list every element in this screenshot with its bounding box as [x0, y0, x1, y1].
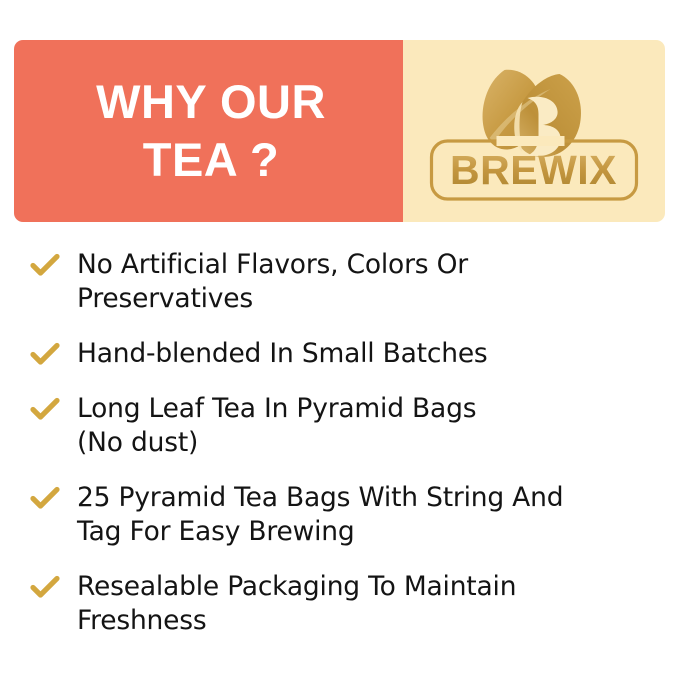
check-icon	[30, 481, 60, 515]
check-icon	[30, 337, 60, 371]
brewix-logo-icon: BREWIX	[427, 56, 642, 206]
why-our-tea-banner: WHY OUR TEA ?	[14, 40, 665, 222]
list-item: 25 Pyramid Tea Bags With String And Tag …	[0, 481, 679, 549]
feature-text: Resealable Packaging To Maintain Freshne…	[77, 570, 516, 638]
brewix-wordmark: BREWIX	[450, 147, 617, 193]
page-title: WHY OUR TEA ?	[66, 73, 356, 190]
list-item: Hand-blended In Small Batches	[0, 337, 679, 371]
list-item: Resealable Packaging To Maintain Freshne…	[0, 570, 679, 638]
feature-text: Long Leaf Tea In Pyramid Bags (No dust)	[77, 392, 476, 460]
feature-list: No Artificial Flavors, Colors Or Preserv…	[0, 248, 679, 659]
check-icon	[30, 570, 60, 604]
check-icon	[30, 248, 60, 282]
feature-text: No Artificial Flavors, Colors Or Preserv…	[77, 248, 468, 316]
banner-logo-panel: BREWIX	[403, 40, 665, 222]
check-icon	[30, 392, 60, 426]
banner-headline-panel: WHY OUR TEA ?	[14, 40, 403, 222]
brewix-logo: BREWIX	[427, 56, 642, 206]
feature-text: 25 Pyramid Tea Bags With String And Tag …	[77, 481, 563, 549]
product-feature-card: WHY OUR TEA ?	[0, 0, 679, 679]
feature-text: Hand-blended In Small Batches	[77, 337, 488, 371]
list-item: No Artificial Flavors, Colors Or Preserv…	[0, 248, 679, 316]
list-item: Long Leaf Tea In Pyramid Bags (No dust)	[0, 392, 679, 460]
